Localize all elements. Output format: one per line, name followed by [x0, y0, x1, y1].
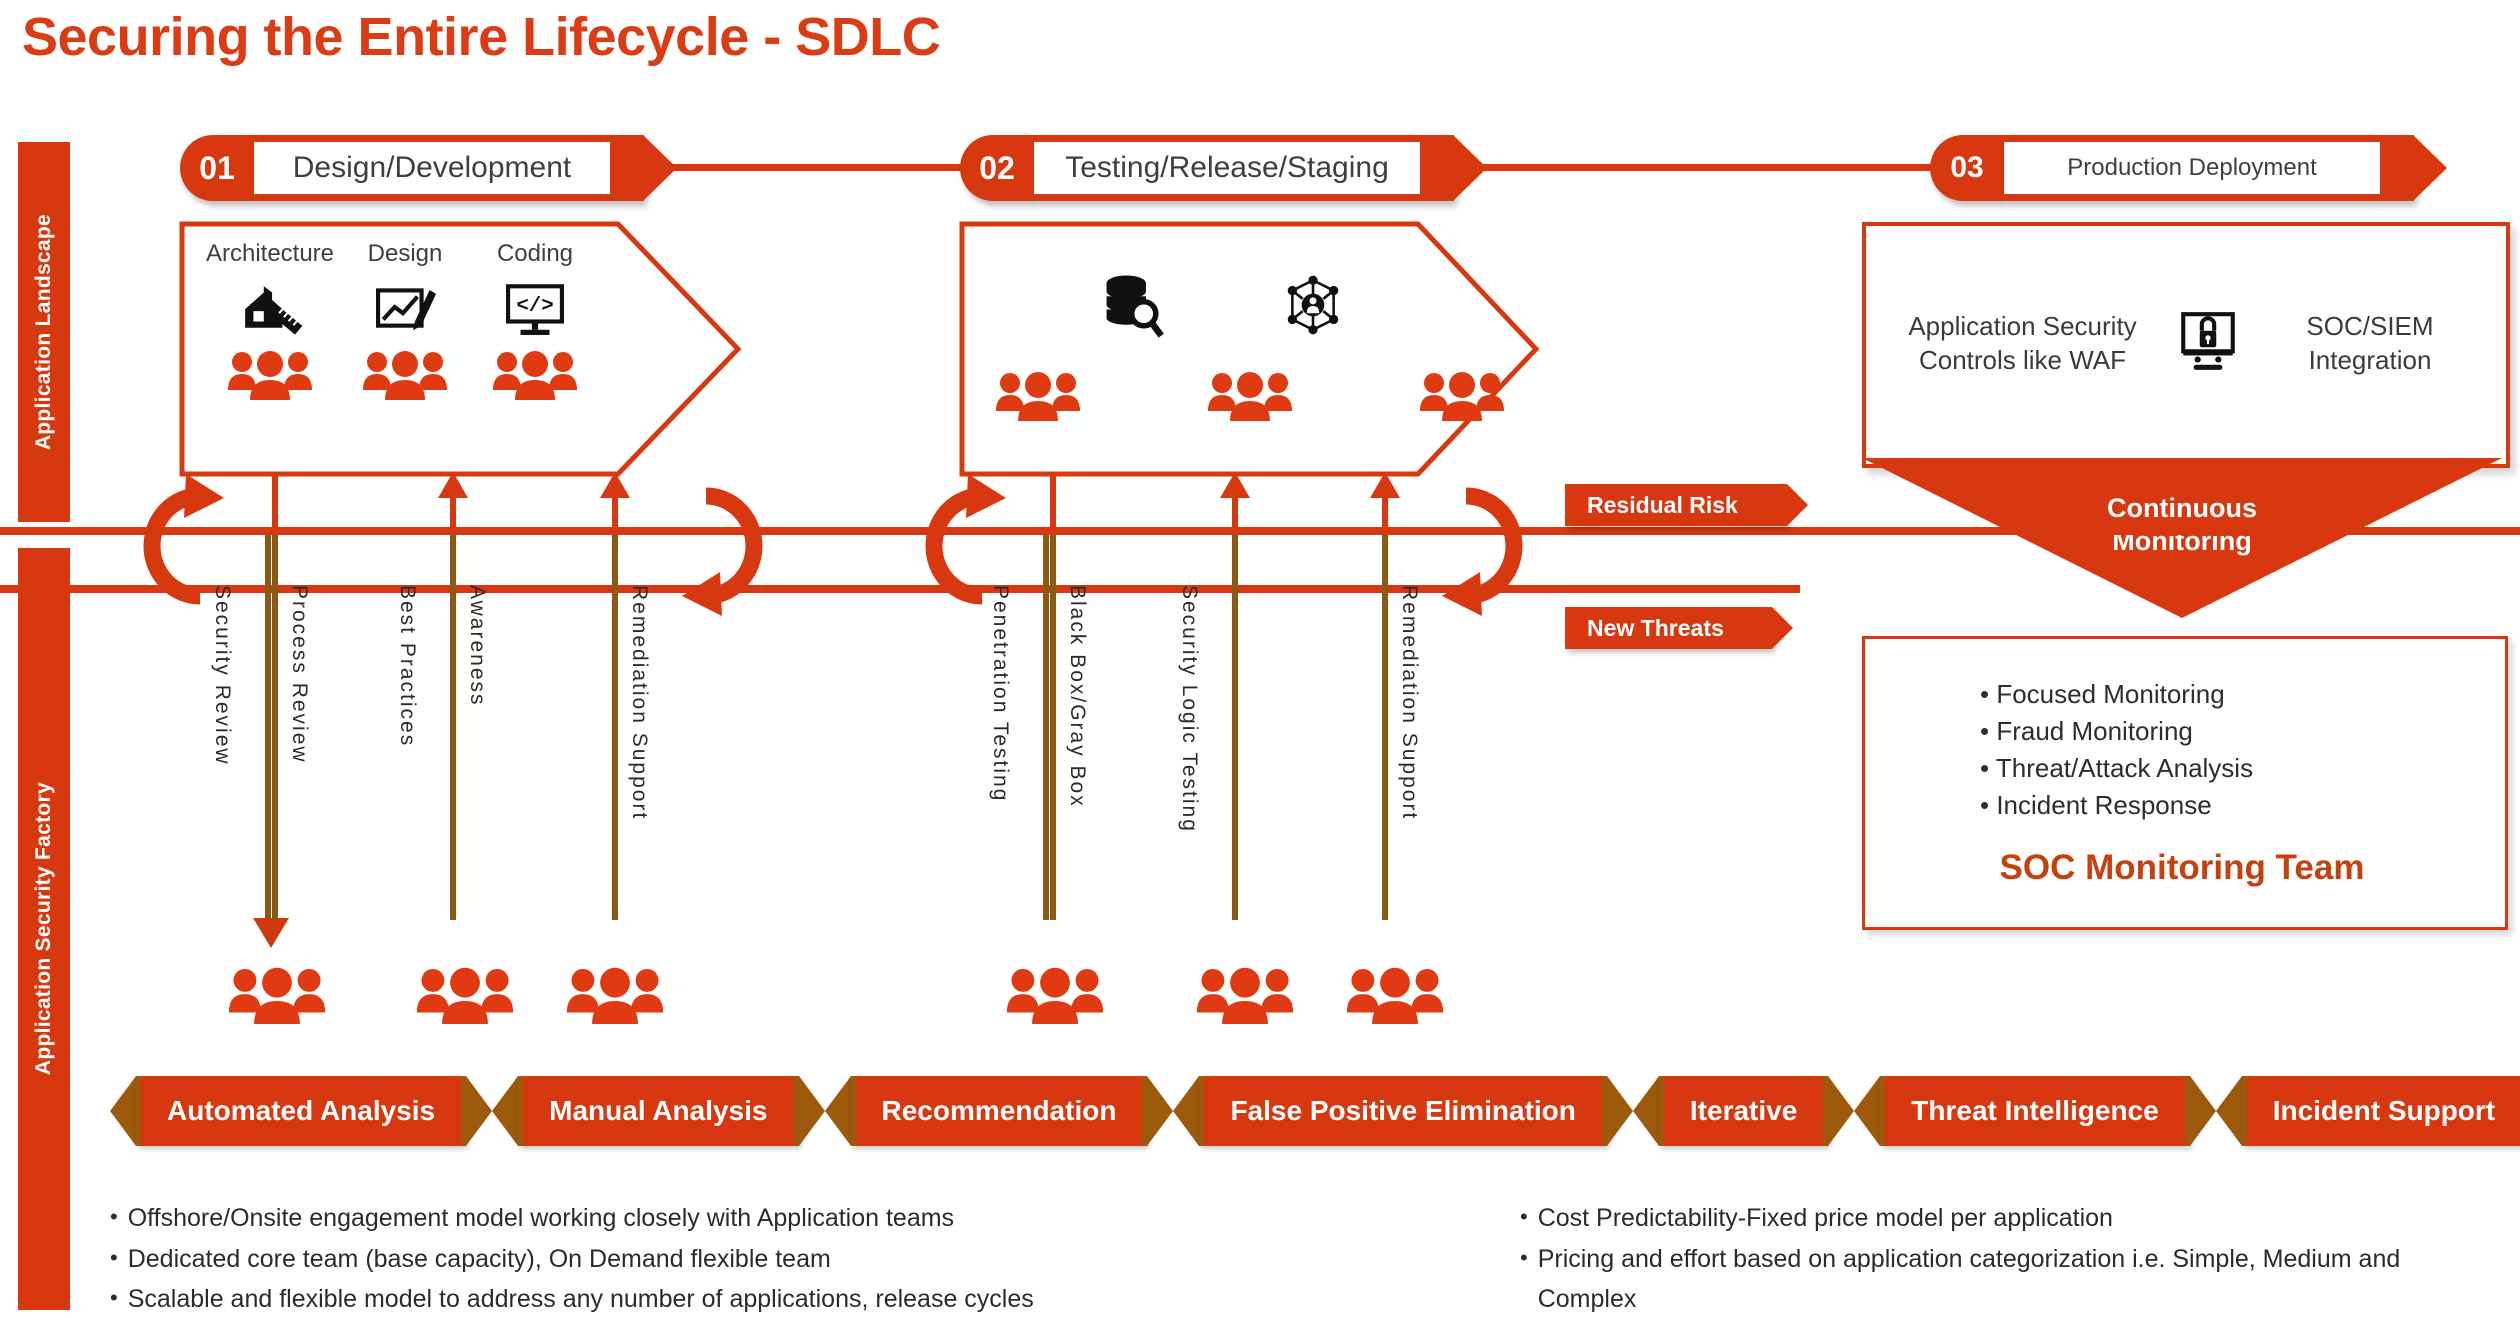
bullet-dot-icon: • [1520, 1239, 1528, 1320]
stage-chevron-1: Design/Development [254, 135, 644, 201]
ribbon-arrow-right-icon [1828, 1076, 1854, 1146]
stage-number-1: 01 [180, 135, 254, 201]
lane-label-awareness: Awareness [465, 585, 489, 707]
ribbon-item-threat-intelligence[interactable]: Threat Intelligence [1880, 1076, 2189, 1146]
stage-chevron-3: Production Deployment [2004, 135, 2414, 201]
ribbon-item-incident-support[interactable]: Incident Support [2242, 1076, 2520, 1146]
people-group-icon [1000, 958, 1110, 1028]
stage1-title-design: Design [368, 240, 443, 268]
lane-line-remediation1-top [612, 498, 618, 532]
band-label-factory: Application Security Factory [32, 782, 56, 1075]
soc-bullet-item: • Incident Response [1980, 787, 2253, 824]
people-group-icon [1340, 958, 1450, 1028]
house-ruler-icon [235, 278, 305, 336]
lane-label-security-review: Security Review [210, 585, 234, 766]
people-group-icon [1414, 365, 1510, 423]
stage-number-2: 02 [960, 135, 1034, 201]
ribbon-arrow-left-icon [1854, 1076, 1880, 1146]
lane-label-process-review: Process Review [287, 585, 311, 764]
lane-line-best-practices-top [450, 498, 456, 532]
bullet-dot-icon: • [110, 1279, 118, 1320]
lane-line-penetration-testing [1043, 535, 1049, 920]
stage3-waf-label: Application Security Controls like WAF [1895, 310, 2150, 378]
soc-bullet-item: • Threat/Attack Analysis [1980, 750, 2253, 787]
chevron-tip-icon [1787, 484, 1808, 526]
ribbon-arrow-right-icon [2190, 1076, 2216, 1146]
lane-label-remediation-support-1: Remediation Support [627, 585, 651, 820]
bullet-dot-icon: • [1520, 1198, 1528, 1239]
ribbon-item-manual-analysis[interactable]: Manual Analysis [518, 1076, 798, 1146]
chevron-tip-icon [2413, 135, 2447, 201]
bullet-dot-icon: • [110, 1198, 118, 1239]
lane-label-penetration-testing: Penetration Testing [988, 585, 1012, 802]
people-group-icon [1190, 958, 1300, 1028]
tag-label-residual-risk: Residual Risk [1587, 492, 1738, 519]
stage-banner-2[interactable]: 02 Testing/Release/Staging [960, 135, 1454, 201]
svg-text:</>: </> [516, 295, 553, 318]
stage-label-1: Design/Development [275, 151, 589, 185]
bullet-dot-icon: • [110, 1239, 118, 1280]
stage-banner-1[interactable]: 01 Design/Development [180, 135, 644, 201]
people-group-icon [1202, 365, 1298, 423]
up-arrow-icon [1220, 472, 1250, 498]
monitor-lock-icon [2175, 308, 2241, 374]
footnote-item: •Cost Predictability-Fixed price model p… [1520, 1198, 2480, 1239]
lane-line-blackbox [1050, 535, 1056, 920]
database-search-icon [1100, 272, 1170, 338]
band-application-security-factory: Application Security Factory [18, 548, 70, 1310]
soc-bullet-item: • Fraud Monitoring [1980, 713, 2253, 750]
ribbon-item-automated-analysis[interactable]: Automated Analysis [136, 1076, 466, 1146]
lane-line-security-logic [1232, 535, 1238, 920]
stage-number-3: 03 [1930, 135, 2004, 201]
lane-line-security-review [265, 535, 271, 920]
up-arrow-icon [1370, 472, 1400, 498]
loop-arrow-right-group1 [670, 470, 780, 620]
footnote-item: •Dedicated core team (base capacity), On… [110, 1239, 1430, 1280]
network-user-icon [1280, 272, 1346, 338]
band-label-landscape: Application Landscape [32, 214, 56, 450]
ribbon-item-iterative[interactable]: Iterative [1659, 1076, 1828, 1146]
chart-pencil-icon [370, 278, 440, 336]
lane-label-black-box-gray-box: Black Box/Gray Box [1065, 585, 1089, 808]
ribbon-arrow-left-icon [1633, 1076, 1659, 1146]
lane-label-security-logic-testing: Security Logic Testing [1177, 585, 1201, 833]
lane-label-remediation-support-2: Remediation Support [1397, 585, 1421, 820]
people-group-icon [222, 344, 318, 402]
ribbon-arrow-right-icon [466, 1076, 492, 1146]
footnotes-right: •Cost Predictability-Fixed price model p… [1520, 1198, 2480, 1320]
band-application-landscape: Application Landscape [18, 142, 70, 522]
page-title: Securing the Entire Lifecycle - SDLC [22, 6, 940, 68]
stage2-pentagon [958, 220, 1578, 478]
ribbon-item-false-positive-elimination[interactable]: False Positive Elimination [1199, 1076, 1606, 1146]
continuous-monitoring-label: Continuous Monitoring [1862, 492, 2502, 558]
footnote-item: •Offshore/Onsite engagement model workin… [110, 1198, 1430, 1239]
tag-residual-risk[interactable]: Residual Risk [1565, 484, 1787, 526]
people-group-icon [487, 344, 583, 402]
code-monitor-icon: </> [500, 278, 570, 336]
lane-line-process-review [272, 535, 278, 920]
stage1-column-architecture: Architecture [200, 240, 340, 402]
lane-line-blackbox-top [1050, 472, 1056, 532]
ribbon-arrow-left-icon [110, 1076, 136, 1146]
soc-bullet-list: • Focused Monitoring • Fraud Monitoring … [1980, 676, 2253, 824]
people-group-icon [560, 958, 670, 1028]
ribbon-arrow-left-icon [2216, 1076, 2242, 1146]
stage1-title-architecture: Architecture [206, 240, 334, 268]
ribbon-arrow-left-icon [825, 1076, 851, 1146]
tag-new-threats[interactable]: New Threats [1565, 607, 1772, 649]
lane-line-security-logic-top [1232, 498, 1238, 532]
stage1-title-coding: Coding [497, 240, 573, 268]
stage1-column-coding: Coding </> [470, 240, 600, 402]
lane-line-remediation2-top [1382, 498, 1388, 532]
lane-line-remediation1 [612, 535, 618, 920]
tag-label-new-threats: New Threats [1587, 615, 1724, 642]
connector-stage2-stage3 [1415, 164, 1945, 171]
ribbon-arrow-right-icon [799, 1076, 825, 1146]
chevron-tip-icon [643, 135, 677, 201]
stage3-socsiem-label: SOC/SIEM Integration [2260, 310, 2480, 378]
ribbon-arrow-right-icon [1607, 1076, 1633, 1146]
process-ribbon: Automated Analysis Manual Analysis Recom… [110, 1076, 2520, 1146]
chevron-tip-icon [1453, 135, 1487, 201]
footnote-item: •Pricing and effort based on application… [1520, 1239, 2480, 1320]
connector-stage1-stage2 [655, 164, 975, 171]
chevron-tip-icon [1772, 607, 1793, 649]
stage2-people-row [990, 365, 1510, 423]
footnote-item: •Scalable and flexible model to address … [110, 1279, 1430, 1320]
ribbon-arrow-left-icon [1173, 1076, 1199, 1146]
up-arrow-icon [438, 472, 468, 498]
stage-banner-3[interactable]: 03 Production Deployment [1930, 135, 2414, 201]
ribbon-arrow-left-icon [492, 1076, 518, 1146]
footnotes-left: •Offshore/Onsite engagement model workin… [110, 1198, 1430, 1320]
soc-monitoring-team-title: SOC Monitoring Team [1862, 848, 2502, 888]
lane-line-process-review-top [272, 472, 278, 532]
lane-line-remediation2 [1382, 535, 1388, 920]
soc-bullet-item: • Focused Monitoring [1980, 676, 2253, 713]
down-arrow-icon [253, 918, 289, 948]
stage-label-3: Production Deployment [2049, 154, 2334, 182]
people-group-icon [222, 958, 332, 1028]
stage1-column-design: Design [340, 240, 470, 402]
people-group-icon [990, 365, 1086, 423]
stage1-columns: Architecture Design Coding [200, 240, 600, 402]
up-arrow-icon [600, 472, 630, 498]
loop-arrow-right-group2 [1430, 470, 1540, 620]
stage-label-2: Testing/Release/Staging [1047, 151, 1407, 185]
stage-chevron-2: Testing/Release/Staging [1034, 135, 1454, 201]
ribbon-item-recommendation[interactable]: Recommendation [851, 1076, 1148, 1146]
ribbon-arrow-right-icon [1147, 1076, 1173, 1146]
lane-label-best-practices: Best Practices [395, 585, 419, 747]
flow-rail-top [0, 527, 2520, 535]
lane-line-best-practices [450, 535, 456, 920]
people-group-icon [410, 958, 520, 1028]
people-group-icon [357, 344, 453, 402]
